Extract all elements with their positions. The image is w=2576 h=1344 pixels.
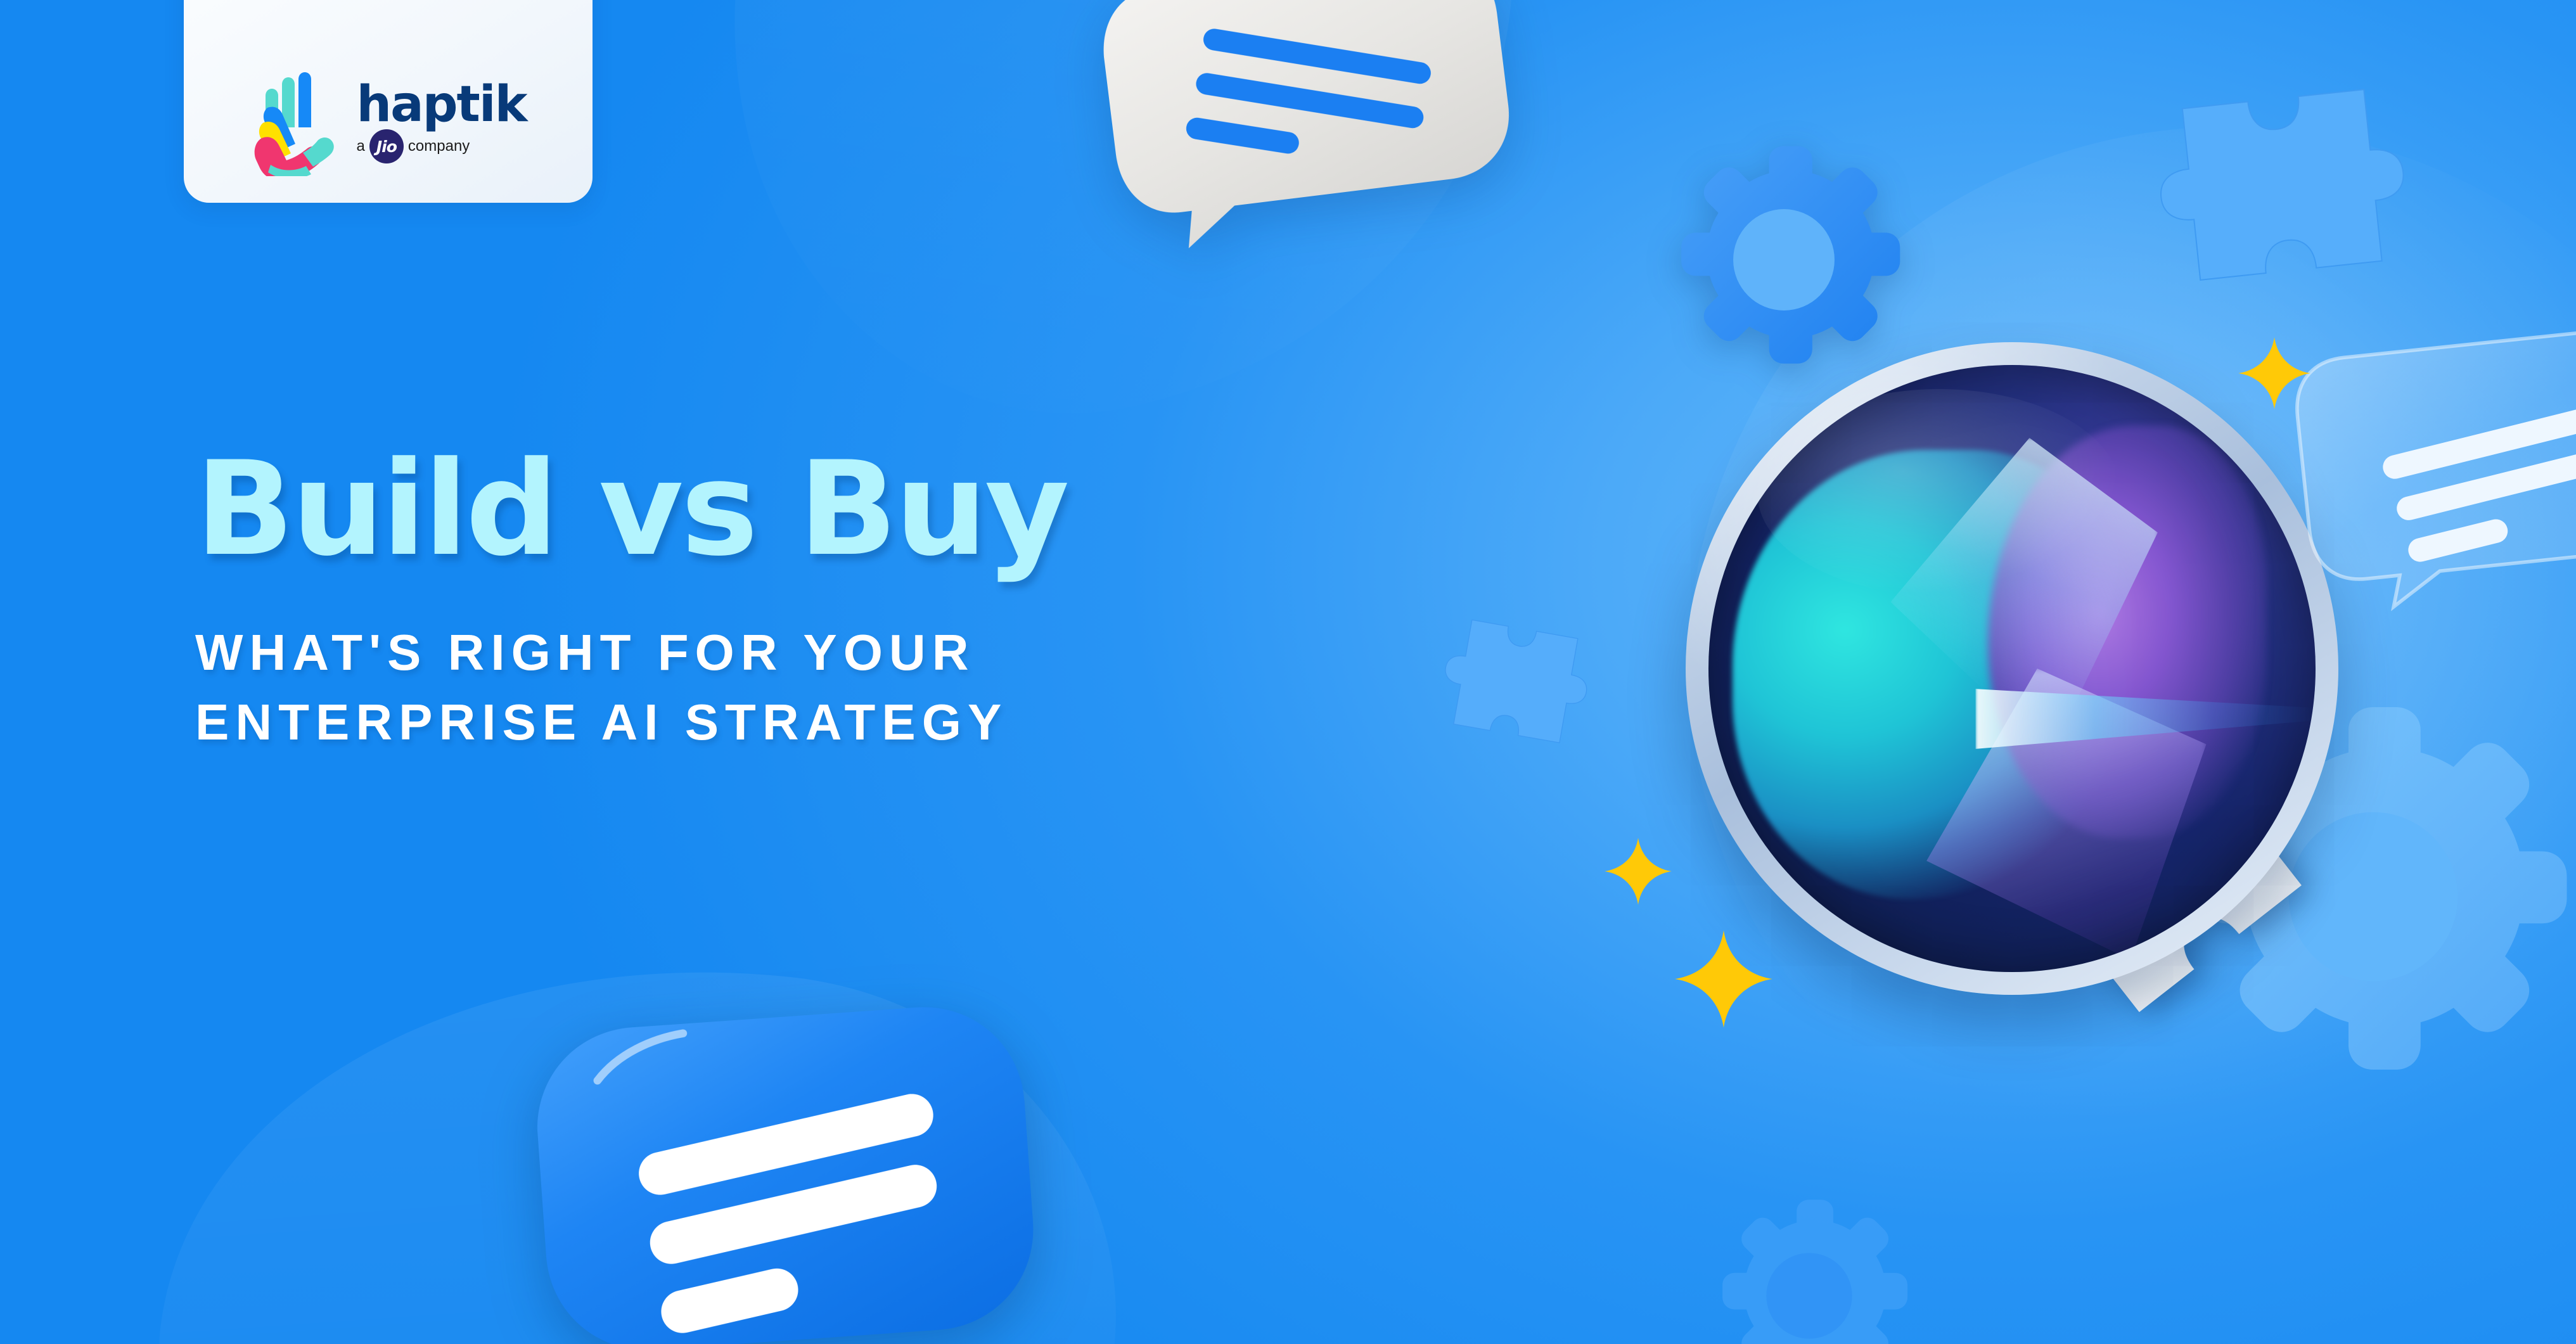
wordmark: haptik bbox=[357, 81, 527, 128]
orb-highlight bbox=[1757, 389, 2122, 596]
jio-badge: Jio bbox=[369, 129, 404, 163]
headline-block: Build vs Buy WHAT'S RIGHT FOR YOUR ENTER… bbox=[195, 444, 1526, 758]
byline-suffix: company bbox=[408, 138, 470, 155]
orb-swirl-beam bbox=[1890, 438, 2158, 753]
logo-lockup: haptik a Jio company bbox=[250, 68, 527, 176]
sparkle-icon-right bbox=[2237, 336, 2312, 411]
orb-swirl-tail bbox=[1976, 632, 2316, 790]
subheading-line-1: WHAT'S RIGHT FOR YOUR bbox=[195, 618, 1526, 688]
orb-swirl-lower bbox=[1915, 669, 2207, 960]
gear-icon-top bbox=[1660, 136, 1907, 383]
background-blob-bottom-left bbox=[131, 916, 1150, 1344]
haptik-logo-card[interactable]: haptik a Jio company bbox=[184, 0, 593, 203]
logo-text-block: haptik a Jio company bbox=[357, 81, 527, 163]
background-glow-right bbox=[1689, 127, 2576, 1204]
byline-prefix: a bbox=[357, 138, 365, 155]
sparkle-icon-small-left bbox=[1603, 836, 1673, 906]
gear-icon-bottom-center bbox=[1705, 1191, 1914, 1344]
gear-icon-bottom-right bbox=[2167, 691, 2576, 1103]
chat-bubble-icon-blue bbox=[520, 990, 1051, 1344]
orb-swirl-purple bbox=[1988, 426, 2267, 838]
byline: a Jio company bbox=[357, 129, 470, 163]
sparkle-icon-large-left bbox=[1673, 928, 1774, 1030]
haptik-hand-icon bbox=[250, 68, 345, 176]
ai-orb-sphere bbox=[1686, 342, 2338, 995]
orb-swirl-teal bbox=[1733, 450, 2133, 899]
puzzle-piece-icon-white bbox=[1954, 668, 2399, 1113]
subheading-line-2: ENTERPRISE AI STRATEGY bbox=[195, 688, 1526, 757]
orb-core bbox=[1708, 365, 2316, 972]
background-blob-top-left bbox=[655, 0, 1595, 473]
chat-bubble-icon-glass bbox=[2274, 318, 2576, 626]
page-title: Build vs Buy bbox=[195, 444, 1526, 576]
banner-canvas: haptik a Jio company Build vs Buy WHAT'S… bbox=[0, 0, 2576, 1344]
chat-bubble-icon-white bbox=[1091, 0, 1527, 261]
puzzle-piece-icon-top-right bbox=[2091, 61, 2420, 345]
subheading-block: WHAT'S RIGHT FOR YOUR ENTERPRISE AI STRA… bbox=[195, 618, 1526, 758]
